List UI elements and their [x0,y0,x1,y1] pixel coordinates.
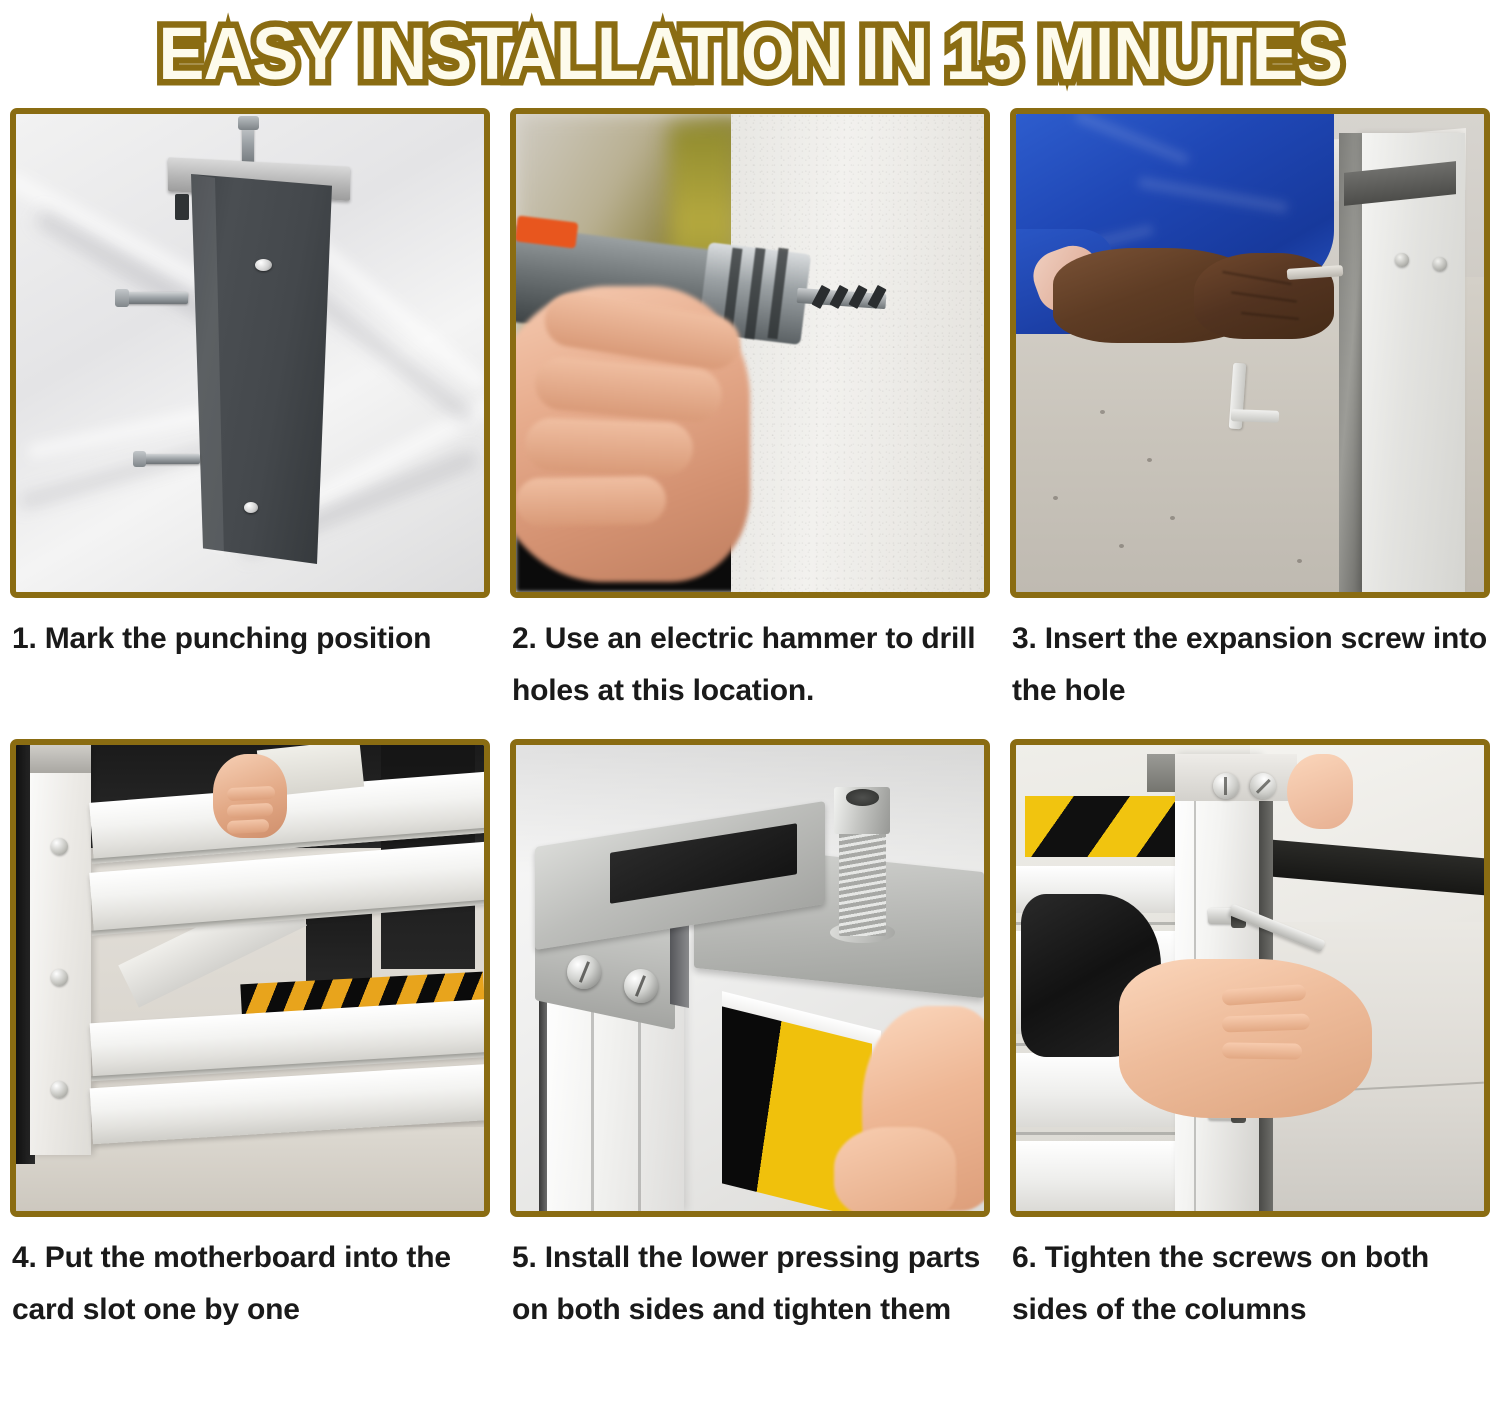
column-screw-1 [1395,253,1409,267]
step-photo-frame-3[interactable] [1010,108,1490,598]
hazard-stripe-top-board [1025,796,1184,857]
step-cell-5: 5. Install the lower pressing parts on b… [500,739,1000,1390]
mounting-hole-upper [255,259,272,271]
step-caption-5: 5. Install the lower pressing parts on b… [510,1217,990,1390]
step-photo-frame-6[interactable] [1010,739,1490,1217]
top-bolt-head [238,116,259,130]
photo-drill-wall [516,114,984,592]
wall-surface [731,114,984,592]
mounting-hole-lower [244,502,258,513]
step-cell-3: 3. Insert the expansion screw into the h… [1000,108,1500,739]
step-photo-frame-1[interactable] [10,108,490,598]
column-clip [175,194,189,220]
step-photo-frame-4[interactable] [10,739,490,1217]
step-cell-6: 6. Tighten the screws on both sides of t… [1000,739,1500,1390]
bracket-screw-1 [567,955,601,989]
title-banner: EASY INSTALLATION IN 15 MINUTES [0,0,1500,108]
step-cell-4: 4. Put the motherboard into the card slo… [0,739,500,1390]
photo-tighten-screws [1016,745,1484,1211]
photo-mark-punching-position [16,114,484,592]
step-caption-1: 1. Mark the punching position [10,598,490,739]
step-photo-frame-5[interactable] [510,739,990,1217]
bracket-screw-2 [624,969,658,1003]
step-photo-frame-2[interactable] [510,108,990,598]
step-caption-3: 3. Insert the expansion screw into the h… [1010,598,1490,739]
steps-row-bottom: 4. Put the motherboard into the card slo… [0,739,1500,1390]
page-title: EASY INSTALLATION IN 15 MINUTES [158,15,1341,93]
step-cell-2: 2. Use an electric hammer to drill holes… [500,108,1000,739]
step-caption-2: 2. Use an electric hammer to drill holes… [510,598,990,739]
column-screw-2 [1433,257,1447,271]
post-screw-3 [51,1081,68,1098]
photo-lower-pressing-parts [516,745,984,1211]
hand-tightening-screw [1119,959,1372,1117]
step-caption-6: 6. Tighten the screws on both sides of t… [1010,1217,1490,1390]
top-screw-1 [1213,773,1239,799]
lower-bolt-rod [138,454,200,464]
photo-insert-boards [16,745,484,1211]
step-caption-4: 4. Put the motherboard into the card slo… [10,1217,490,1390]
installation-steps-grid: 1. Mark the punching position [0,108,1500,1390]
steps-row-top: 1. Mark the punching position [0,108,1500,739]
threaded-bolt-shaft [839,824,886,936]
middle-bolt-rod [120,292,188,304]
post-screw-2 [51,969,68,986]
photo-insert-expansion-screw [1016,114,1484,592]
step-cell-1: 1. Mark the punching position [0,108,500,739]
allen-key-foot [1231,410,1279,424]
